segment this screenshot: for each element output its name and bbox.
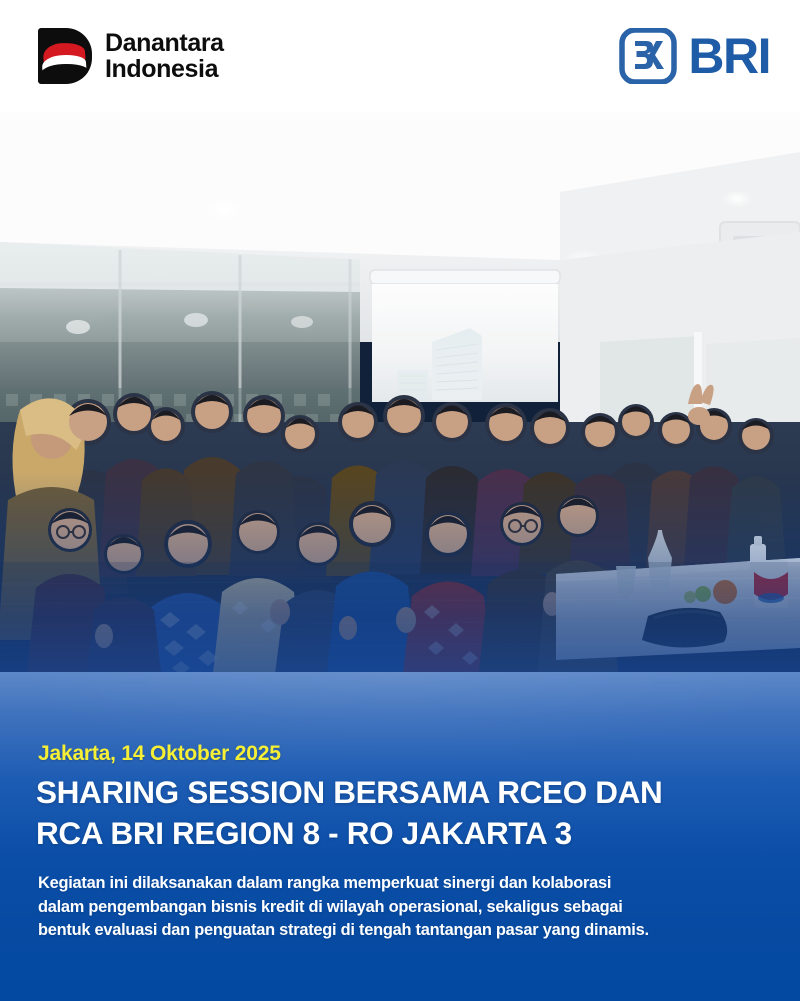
poster-header: Danantara Indonesia BRI [0, 0, 800, 112]
bri-logo: BRI [619, 28, 770, 84]
danantara-garuda-mark [38, 28, 92, 84]
event-headline-line-2: RCA BRI REGION 8 - RO JAKARTA 3 [36, 813, 766, 854]
event-description-line-3: bentuk evaluasi dan penguatan strategi d… [38, 919, 758, 943]
event-description-line-2: dalam pengembangan bisnis kredit di wila… [38, 896, 758, 920]
event-photo-illustration [0, 92, 800, 682]
event-photo [0, 92, 800, 682]
event-headline-line-1: SHARING SESSION BERSAMA RCEO DAN [36, 772, 766, 813]
danantara-wordmark-line2: Indonesia [105, 56, 224, 82]
danantara-wordmark: Danantara Indonesia [105, 30, 224, 82]
event-description-line-1: Kegiatan ini dilaksanakan dalam rangka m… [38, 872, 758, 896]
danantara-logo: Danantara Indonesia [38, 28, 224, 84]
event-headline: SHARING SESSION BERSAMA RCEO DAN RCA BRI… [36, 772, 766, 854]
bri-wordmark: BRI [688, 31, 770, 81]
event-date: Jakarta, 14 Oktober 2025 [38, 742, 281, 766]
bri-monogram-icon [619, 28, 677, 84]
poster-canvas: Danantara Indonesia BRI [0, 0, 800, 1001]
danantara-wordmark-line1: Danantara [105, 30, 224, 56]
event-description: Kegiatan ini dilaksanakan dalam rangka m… [38, 872, 758, 943]
